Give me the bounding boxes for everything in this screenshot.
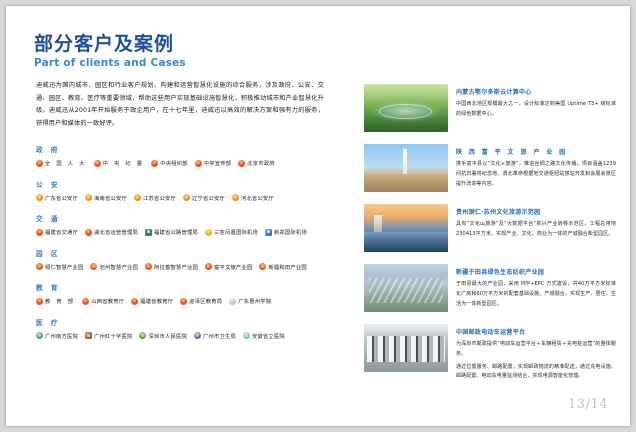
client-name: 河北省公安厅 — [241, 194, 274, 202]
national-emblem-icon — [36, 298, 43, 305]
category-client-row: 教 育 部山西省教育厅福建省教育厅迎泽区教育局广东惠州学院 — [36, 297, 336, 305]
national-emblem-icon — [259, 263, 266, 270]
national-emblem-icon — [180, 298, 187, 305]
category-client-row: 铜仁智慧产业园池州智慧产业园阿拉善智慧产业园富平文旅产业园新疆和田产业园 — [36, 263, 336, 271]
client-entry: 广州市卫生局 — [194, 332, 236, 340]
airport-badge-icon — [265, 229, 272, 236]
national-emblem-icon — [36, 263, 43, 270]
client-entry: 辽宁省公安厅 — [183, 194, 225, 202]
national-emblem-icon — [145, 263, 152, 270]
brochure-page: 部分客户及案例 Part of clients and Cases 迪威迅为国内… — [6, 6, 630, 426]
client-name: 全 国 人 大 — [45, 159, 87, 167]
client-entry: 全 国 人 大 — [36, 159, 87, 167]
case-study-body: 贵州铜仁·苏州文化旅游示范园具有“文化щ旅游”及“大数据平台”新兴产业转移示范区… — [456, 204, 616, 252]
hospital-badge-icon — [243, 332, 250, 339]
category-label: 政 府 — [36, 144, 336, 154]
case-study-paragraph: 具有“文化щ旅游”及“大数据平台”新兴产业转移示范区。工程总用地230413平方… — [456, 220, 616, 240]
police-badge-icon — [232, 194, 239, 201]
client-name: 铜仁智慧产业园 — [45, 263, 83, 271]
case-study-body: 内蒙古鄂尔多斯云计算中心中国西北地区规模最大之一，设计标准达到美国 Uptime… — [456, 84, 616, 132]
client-name: 三亚凤凰国际机场 — [214, 228, 258, 236]
client-entry: 福建省交通厅 — [36, 228, 78, 236]
client-name: 中 央 纪 委 — [103, 159, 145, 167]
red-cross-icon — [85, 332, 92, 339]
client-name: 教 育 部 — [45, 297, 75, 305]
case-study-title: 陕 西 富 平 文 旅 产 业 园 — [456, 147, 616, 156]
china-post-ev-platform-photo — [364, 324, 448, 372]
category-label: 医 疗 — [36, 317, 336, 327]
client-name: 湖北省运管管理局 — [94, 228, 138, 236]
category-client-row: 广州南方医院广州红十字医院深圳市人民医院广州市卫生局安徽省立医院 — [36, 332, 336, 340]
client-entry: 江苏省公安厅 — [134, 194, 176, 202]
category-label: 公 安 — [36, 179, 336, 189]
national-emblem-icon — [82, 298, 89, 305]
client-category: 教 育教 育 部山西省教育厅福建省教育厅迎泽区教育局广东惠州学院 — [36, 282, 336, 305]
client-entry: 广东惠州学院 — [229, 297, 271, 305]
client-name: 福建省交通厅 — [45, 228, 78, 236]
client-entry: 河北省公安厅 — [232, 194, 274, 202]
case-study-paragraph: 通过位置服务、邮路配置，实现邮政物流的精准配送；通过充电设施、邮路配置、电动车电… — [456, 363, 616, 383]
client-category: 交 通福建省交通厅湖北省运管管理局福建省公路管理局三亚凤凰国际机场新郑国际机场 — [36, 213, 336, 236]
case-study-item: 贵州铜仁·苏州文化旅游示范园具有“文化щ旅游”及“大数据平台”新兴产业转移示范区… — [364, 204, 616, 252]
ordos-cloud-computing-center-photo — [364, 84, 448, 132]
police-badge-icon — [85, 194, 92, 201]
case-study-title: 新疆于田县绿色生态纺织产业园 — [456, 267, 616, 276]
client-entry: 池州智慧产业园 — [90, 263, 137, 271]
page-header: 部分客户及案例 Part of clients and Cases — [34, 34, 354, 69]
client-name: 广东惠州学院 — [238, 297, 271, 305]
client-name: 阿拉善智慧产业园 — [154, 263, 198, 271]
case-study-body: 新疆于田县绿色生态纺织产业园于田县最大的产业园，采用 PPP+EPC 方式建设，… — [456, 264, 616, 312]
category-client-row: 全 国 人 大中 央 纪 委中央组织部中央宣传部北京市政府 — [36, 159, 336, 167]
category-client-row: 广东省公安厅海南省公安厅江苏省公安厅辽宁省公安厅河北省公安厅 — [36, 194, 336, 202]
case-study-title: 中国邮政电动车运营平台 — [456, 327, 616, 336]
yutian-green-textile-park-photo — [364, 264, 448, 312]
case-study-paragraph: 于田县最大的产业园，采用 PPP+EPC 方式建设，共40万平方米标准化厂房和6… — [456, 280, 616, 309]
police-badge-icon — [134, 194, 141, 201]
client-entry: 广州南方医院 — [36, 332, 78, 340]
case-study-paragraph: 携手富平县以“文化+旅游”，推进丝绸之路文化传播。项目涵盖1239间抗日署将纪念… — [456, 160, 616, 189]
category-label: 教 育 — [36, 282, 336, 292]
client-name: 安徽省立医院 — [252, 332, 285, 340]
client-name: 广东省公安厅 — [45, 194, 78, 202]
case-study-body: 中国邮政电动车运营平台为深圳市邮政提供“电动车运营平台＋车辆租赁＋充电桩运营”的… — [456, 324, 616, 382]
hospital-badge-icon — [36, 332, 43, 339]
national-emblem-icon — [85, 229, 92, 236]
client-category: 政 府全 国 人 大中 央 纪 委中央组织部中央宣传部北京市政府 — [36, 144, 336, 167]
client-name: 福建省公路管理局 — [154, 228, 198, 236]
client-entry: 广州红十字医院 — [85, 332, 132, 340]
client-name: 迎泽区教育局 — [189, 297, 222, 305]
national-emblem-icon — [36, 229, 43, 236]
client-name: 广州南方医院 — [45, 332, 78, 340]
client-entry: 铜仁智慧产业园 — [36, 263, 83, 271]
client-entry: 新郑国际机场 — [265, 228, 307, 236]
client-entry: 新疆和田产业园 — [259, 263, 306, 271]
category-label: 园 区 — [36, 248, 336, 258]
tongren-suzhou-cultural-tourism-park-photo — [364, 204, 448, 252]
client-name: 新疆和田产业园 — [268, 263, 306, 271]
client-entry: 福建省公路管理局 — [145, 228, 198, 236]
client-name: 海南省公安厅 — [94, 194, 127, 202]
client-categories: 政 府全 国 人 大中 央 纪 委中央组织部中央宣传部北京市政府公 安广东省公安… — [36, 144, 336, 351]
fuping-cultural-tourism-park-photo — [364, 144, 448, 192]
category-client-row: 福建省交通厅湖北省运管管理局福建省公路管理局三亚凤凰国际机场新郑国际机场 — [36, 228, 336, 236]
client-entry: 湖北省运管管理局 — [85, 228, 138, 236]
case-study-paragraph: 为深圳市邮政提供“电动车运营平台＋车辆租赁＋充电桩运营”的整体服务。 — [456, 340, 616, 360]
client-entry: 教 育 部 — [36, 297, 75, 305]
case-study-item: 新疆于田县绿色生态纺织产业园于田县最大的产业园，采用 PPP+EPC 方式建设，… — [364, 264, 616, 312]
client-name: 新郑国际机场 — [274, 228, 307, 236]
national-emblem-icon — [94, 160, 101, 167]
client-entry: 安徽省立医院 — [243, 332, 285, 340]
police-badge-icon — [36, 194, 43, 201]
national-emblem-icon — [36, 160, 43, 167]
category-label: 交 通 — [36, 213, 336, 223]
client-entry: 富平文旅产业园 — [205, 263, 252, 271]
national-emblem-icon — [205, 263, 212, 270]
highway-badge-icon — [145, 229, 152, 236]
client-entry: 广东省公安厅 — [36, 194, 78, 202]
national-emblem-icon — [90, 263, 97, 270]
client-name: 深圳市人民医院 — [148, 332, 186, 340]
client-name: 山西省教育厅 — [91, 297, 124, 305]
national-emblem-icon — [238, 160, 245, 167]
airport-badge-icon — [205, 229, 212, 236]
client-name: 广州市卫生局 — [203, 332, 236, 340]
client-entry: 阿拉善智慧产业园 — [145, 263, 198, 271]
client-entry: 深圳市人民医院 — [139, 332, 186, 340]
case-study-title: 贵州铜仁·苏州文化旅游示范园 — [456, 207, 616, 216]
client-entry: 福建省教育厅 — [131, 297, 173, 305]
client-category: 公 安广东省公安厅海南省公安厅江苏省公安厅辽宁省公安厅河北省公安厅 — [36, 179, 336, 202]
case-study-body: 陕 西 富 平 文 旅 产 业 园携手富平县以“文化+旅游”，推进丝绸之路文化传… — [456, 144, 616, 192]
client-entry: 迎泽区教育局 — [180, 297, 222, 305]
client-name: 富平文旅产业园 — [214, 263, 252, 271]
university-badge-icon — [229, 298, 236, 305]
intro-paragraph: 迪威迅为国内城市、园区和行业客户规划、构建和运营智慧化设施的综合服务，涉及政府、… — [36, 80, 324, 131]
client-category: 园 区铜仁智慧产业园池州智慧产业园阿拉善智慧产业园富平文旅产业园新疆和田产业园 — [36, 248, 336, 271]
police-badge-icon — [183, 194, 190, 201]
case-study-list: 内蒙古鄂尔多斯云计算中心中国西北地区规模最大之一，设计标准达到美国 Uptime… — [364, 84, 616, 394]
client-name: 辽宁省公安厅 — [192, 194, 225, 202]
page-title-chinese: 部分客户及案例 — [34, 34, 354, 56]
case-study-item: 内蒙古鄂尔多斯云计算中心中国西北地区规模最大之一，设计标准达到美国 Uptime… — [364, 84, 616, 132]
client-name: 池州智慧产业园 — [99, 263, 137, 271]
case-study-item: 陕 西 富 平 文 旅 产 业 园携手富平县以“文化+旅游”，推进丝绸之路文化传… — [364, 144, 616, 192]
client-entry: 三亚凤凰国际机场 — [205, 228, 258, 236]
client-entry: 山西省教育厅 — [82, 297, 124, 305]
client-entry: 中央宣传部 — [195, 159, 232, 167]
health-bureau-icon — [194, 332, 201, 339]
client-name: 广州红十字医院 — [94, 332, 132, 340]
client-name: 江苏省公安厅 — [143, 194, 176, 202]
client-name: 福建省教育厅 — [140, 297, 173, 305]
national-emblem-icon — [195, 160, 202, 167]
client-name: 中央组织部 — [160, 159, 188, 167]
page-number: 13/14 — [568, 397, 608, 412]
case-study-item: 中国邮政电动车运营平台为深圳市邮政提供“电动车运营平台＋车辆租赁＋充电桩运营”的… — [364, 324, 616, 382]
client-entry: 海南省公安厅 — [85, 194, 127, 202]
page-title-english: Part of clients and Cases — [34, 57, 354, 69]
client-entry: 北京市政府 — [238, 159, 275, 167]
client-entry: 中 央 纪 委 — [94, 159, 145, 167]
client-category: 医 疗广州南方医院广州红十字医院深圳市人民医院广州市卫生局安徽省立医院 — [36, 317, 336, 340]
client-entry: 中央组织部 — [151, 159, 188, 167]
case-study-title: 内蒙古鄂尔多斯云计算中心 — [456, 87, 616, 96]
national-emblem-icon — [131, 298, 138, 305]
client-name: 中央宣传部 — [204, 159, 232, 167]
national-emblem-icon — [151, 160, 158, 167]
case-study-paragraph: 中国西北地区规模最大之一，设计标准达到美国 Uptime T3+ 级标准的绿色数… — [456, 100, 616, 120]
client-name: 北京市政府 — [247, 159, 275, 167]
hospital-badge-icon — [139, 332, 146, 339]
